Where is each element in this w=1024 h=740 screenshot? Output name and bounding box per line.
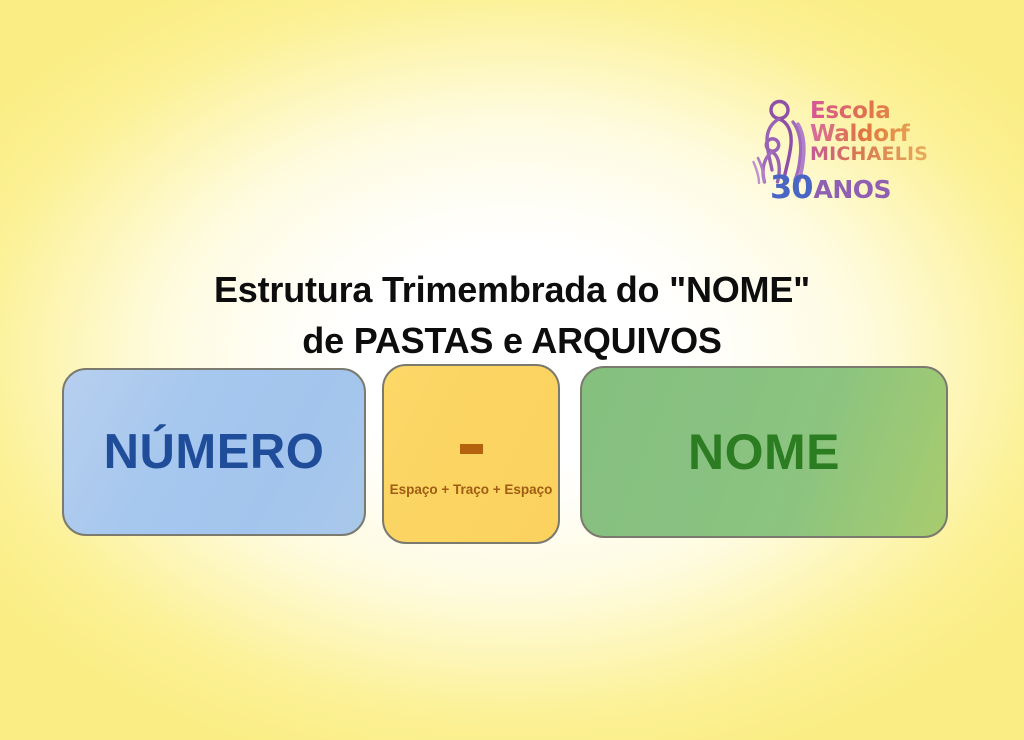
page-title-line-2: de PASTAS e ARQUIVOS	[0, 315, 1024, 366]
diagram-box-traco-caption: Espaço + Traço + Espaço	[390, 482, 553, 497]
logo-years-word: ANOS	[814, 175, 892, 204]
hyphen-dash-icon	[460, 444, 483, 454]
page-title-line-1: Estrutura Trimembrada do "NOME"	[0, 264, 1024, 315]
logo-anniversary: 30 ANOS	[770, 168, 891, 206]
logo-years-number: 30	[770, 168, 813, 206]
trimembrada-diagram: NÚMERO Espaço + Traço + Espaço NOME	[0, 360, 1024, 555]
logo-wordmark: Escola Waldorf MICHAELIS	[810, 96, 928, 164]
logo-line-michaelis: MICHAELIS	[810, 145, 928, 164]
logo-line-escola: Escola	[810, 100, 928, 123]
logo-line-waldorf: Waldorf	[810, 123, 928, 146]
diagram-box-numero-label: NÚMERO	[104, 428, 325, 477]
diagram-box-nome-label: NOME	[688, 427, 840, 477]
school-logo: Escola Waldorf MICHAELIS 30 ANOS	[752, 96, 928, 216]
diagram-box-nome: NOME	[580, 366, 948, 538]
diagram-box-numero: NÚMERO	[62, 368, 366, 536]
diagram-box-traco: Espaço + Traço + Espaço	[382, 364, 560, 544]
page-title: Estrutura Trimembrada do "NOME" de PASTA…	[0, 264, 1024, 366]
slide-canvas: Escola Waldorf MICHAELIS 30 ANOS Estrutu…	[0, 0, 1024, 740]
